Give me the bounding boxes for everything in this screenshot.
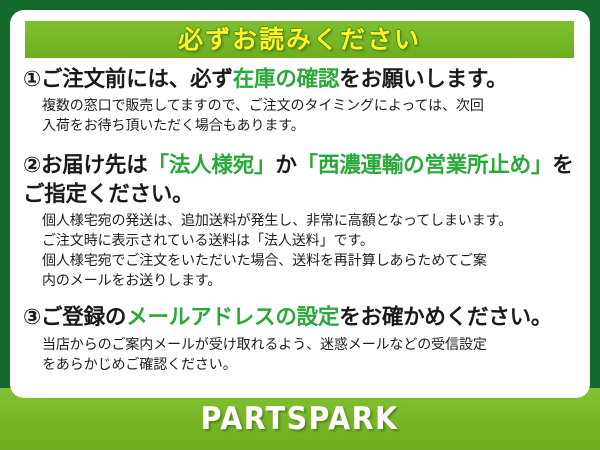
notice-item-2-body-line-4: 内のメールをお送りします。 xyxy=(42,271,578,291)
notice-item-1-heading-part-2: 在庫の確認 xyxy=(233,67,340,92)
notice-items-list: ①ご注文前には、必ず在庫の確認をお願いします。 複数の窓口で販売してますので、ご… xyxy=(10,66,590,375)
notice-card: 必ずお読みください ①ご注文前には、必ず在庫の確認をお願いします。 複数の窓口で… xyxy=(0,0,600,450)
notice-item-2-body: 個人様宅宛の発送は、追加送料が発生し、非常に高額となってしまいます。 ご注文時に… xyxy=(42,211,578,291)
notice-item-1-body: 複数の窓口で販売してますので、ご注文のタイミングによっては、次回 入荷をお待ち頂… xyxy=(42,96,578,136)
notice-item-2-heading-part-3: か xyxy=(275,153,296,178)
notice-item-3-body-line-1: 当店からのご案内メールが受け取れるよう、迷惑メールなどの受信設定 xyxy=(42,335,578,355)
header-banner: 必ずお読みください xyxy=(25,21,574,58)
notice-item-2-body-line-2: ご注文時に表示されている送料は「法人送料」です。 xyxy=(42,231,578,251)
notice-item-3-heading-part-3: をお確かめください。 xyxy=(339,305,552,330)
notice-item-2: ②お届け先は「法人様宛」か「西濃運輸の営業所止め」をご指定ください。 個人様宅宛… xyxy=(10,152,590,291)
notice-item-2-heading-part-4: 「西濃運輸の営業所止め」 xyxy=(297,153,553,178)
notice-item-1-body-line-1: 複数の窓口で販売してますので、ご注文のタイミングによっては、次回 xyxy=(42,96,578,116)
notice-item-3: ③ご登録のメールアドレスの設定をお確かめください。 当店からのご案内メールが受け… xyxy=(10,304,590,374)
notice-item-3-body-line-2: をあらかじめご確認ください。 xyxy=(42,355,578,375)
notice-item-1: ①ご注文前には、必ず在庫の確認をお願いします。 複数の窓口で販売してますので、ご… xyxy=(10,66,590,136)
notice-item-2-body-line-3: 個人様宅宛でご注文をいただいた場合、送料を再計算しあらためてご案 xyxy=(42,251,578,271)
notice-item-3-heading: ③ご登録のメールアドレスの設定をお確かめください。 xyxy=(23,304,578,332)
notice-item-3-heading-part-2: メールアドレスの設定 xyxy=(126,305,339,330)
notice-item-1-heading-part-3: をお願いします。 xyxy=(339,67,507,92)
notice-item-1-heading: ①ご注文前には、必ず在庫の確認をお願いします。 xyxy=(23,66,578,94)
footer-brand-area: PARTSPARK xyxy=(0,388,600,450)
notice-item-2-heading-part-2: 「法人様宛」 xyxy=(148,153,276,178)
brand-logo-text: PARTSPARK xyxy=(201,401,399,437)
notice-item-2-heading: ②お届け先は「法人様宛」か「西濃運輸の営業所止め」をご指定ください。 xyxy=(23,152,578,209)
notice-item-1-heading-part-1: ①ご注文前には、必ず xyxy=(23,67,233,92)
notice-item-3-heading-part-1: ③ご登録の xyxy=(23,305,126,330)
notice-item-3-body: 当店からのご案内メールが受け取れるよう、迷惑メールなどの受信設定 をあらかじめご… xyxy=(42,335,578,375)
banner-title: 必ずお読みください xyxy=(178,27,421,52)
content-panel: 必ずお読みください ①ご注文前には、必ず在庫の確認をお願いします。 複数の窓口で… xyxy=(10,10,590,398)
notice-item-2-body-line-1: 個人様宅宛の発送は、追加送料が発生し、非常に高額となってしまいます。 xyxy=(42,211,578,231)
notice-item-2-heading-part-1: ②お届け先は xyxy=(23,153,148,178)
notice-item-1-body-line-2: 入荷をお待ち頂いただく場合もあります。 xyxy=(42,116,578,136)
